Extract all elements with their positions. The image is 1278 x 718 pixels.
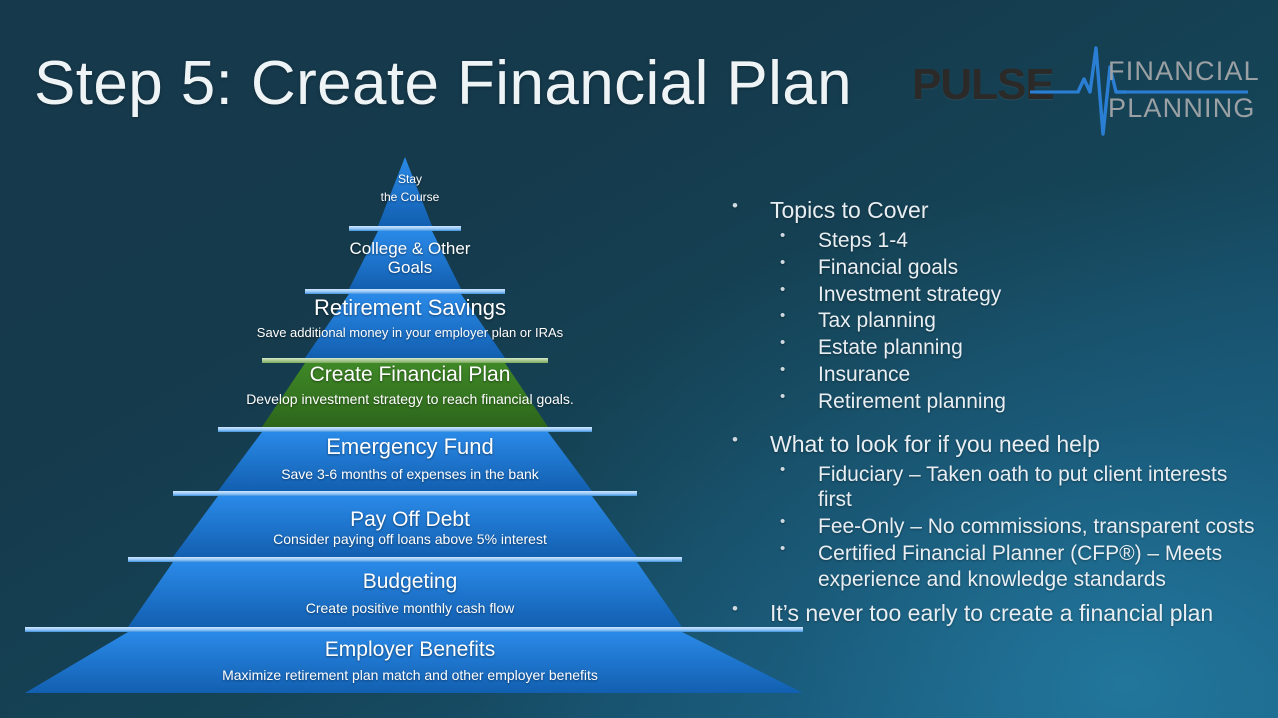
bullet-topic-financial-goals: Financial goals (722, 255, 1262, 281)
bullet-help-heading: What to look for if you need help (722, 430, 1262, 460)
slide-canvas: Step 5: Create Financial Plan PULSE FINA… (0, 0, 1278, 718)
bullet-topic-retirement-planning: Retirement planning (722, 389, 1262, 415)
bullet-closing: It’s never too early to create a financi… (722, 599, 1262, 629)
bullet-list: Topics to Cover Steps 1-4 Financial goal… (722, 196, 1262, 631)
bullet-group-spacer (722, 416, 1262, 430)
bullet-help-fee-only: Fee-Only – No commissions, transparent c… (722, 514, 1262, 540)
bullet-topic-tax-planning: Tax planning (722, 308, 1262, 334)
bullet-topic-investment-strategy: Investment strategy (722, 282, 1262, 308)
pyramid-svg (0, 0, 820, 718)
logo-line-planning: PLANNING (1108, 93, 1256, 124)
brand-logo[interactable]: PULSE FINANCIAL PLANNING (912, 46, 1252, 138)
bullet-topic-insurance: Insurance (722, 362, 1262, 388)
bullet-help-fiduciary: Fiduciary – Taken oath to put client int… (722, 462, 1262, 514)
logo-line-financial: FINANCIAL (1108, 56, 1260, 87)
bullet-help-cfp: Certified Financial Planner (CFP®) – Mee… (722, 541, 1262, 593)
bullet-topic-steps: Steps 1-4 (722, 228, 1262, 254)
bullet-topic-estate-planning: Estate planning (722, 335, 1262, 361)
bullet-topics-heading: Topics to Cover (722, 196, 1262, 226)
financial-pyramid: Stay the Course College & Other Goals Re… (0, 0, 820, 718)
